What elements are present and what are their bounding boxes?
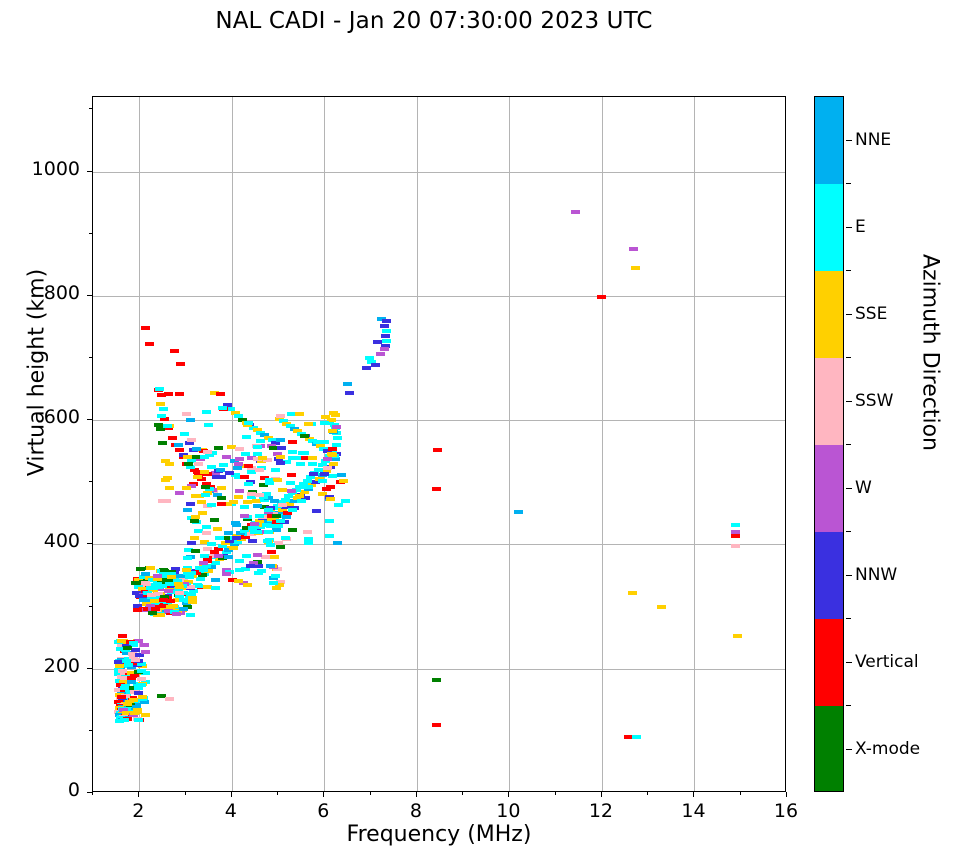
- x-axis-minor-tick: [92, 792, 93, 795]
- echo-point: [373, 340, 382, 344]
- echo-point: [514, 510, 523, 514]
- echo-point: [155, 387, 164, 391]
- colorbar-tick: [846, 314, 852, 315]
- echo-point: [233, 466, 242, 470]
- y-axis-tick: [87, 419, 92, 420]
- echo-point: [182, 568, 191, 572]
- echo-point: [214, 446, 223, 450]
- echo-point: [115, 719, 124, 723]
- echo-point: [334, 503, 343, 507]
- echo-point: [117, 695, 126, 699]
- echo-point: [244, 464, 253, 468]
- echo-point: [432, 487, 441, 491]
- echo-point: [175, 585, 184, 589]
- echo-point: [241, 452, 250, 456]
- colorbar-segment-nnw[interactable]: [815, 532, 843, 620]
- echo-point: [147, 593, 156, 597]
- echo-point: [169, 604, 178, 608]
- echo-point: [134, 718, 143, 722]
- echo-point: [224, 531, 233, 535]
- echo-point: [161, 459, 170, 463]
- echo-point: [140, 700, 149, 704]
- echo-point: [133, 608, 142, 612]
- echo-point: [255, 468, 264, 472]
- echo-point: [382, 329, 391, 333]
- echo-point: [262, 523, 271, 527]
- x-axis-title: Frequency (MHz): [92, 822, 786, 847]
- echo-point: [276, 519, 285, 523]
- echo-point: [304, 485, 313, 489]
- echo-point: [380, 347, 389, 351]
- echo-point: [172, 612, 181, 616]
- echo-point: [309, 472, 318, 476]
- echo-point: [182, 412, 191, 416]
- echo-point: [235, 457, 244, 461]
- echo-point: [733, 634, 742, 638]
- echo-point: [186, 502, 195, 506]
- echo-point: [235, 559, 244, 563]
- echo-point: [320, 440, 329, 444]
- echo-point: [183, 508, 192, 512]
- echo-point: [225, 471, 234, 475]
- echo-point: [337, 473, 346, 477]
- y-axis-tick: [87, 295, 92, 296]
- echo-point: [202, 525, 211, 529]
- echo-point: [123, 646, 132, 650]
- echo-point: [212, 475, 221, 479]
- echo-point: [141, 713, 150, 717]
- echo-point: [244, 421, 253, 425]
- colorbar-segment-e[interactable]: [815, 184, 843, 272]
- echo-point: [165, 582, 174, 586]
- echo-point: [295, 494, 304, 498]
- echo-point: [266, 564, 275, 568]
- colorbar-label-ssw: SSW: [855, 391, 893, 411]
- echo-point: [148, 611, 157, 615]
- echo-point: [234, 495, 243, 499]
- echo-point: [433, 448, 442, 452]
- colorbar-label-nne: NNE: [855, 130, 891, 150]
- echo-point: [127, 680, 136, 684]
- colorbar-boundary-tick: [846, 357, 851, 358]
- echo-point: [190, 519, 199, 523]
- echo-point: [333, 541, 342, 545]
- echo-point: [325, 534, 334, 538]
- echo-point: [136, 567, 145, 571]
- echo-point: [235, 447, 244, 451]
- y-axis-tick: [87, 668, 92, 669]
- echo-point: [158, 499, 167, 503]
- echo-point: [270, 555, 279, 559]
- echo-point: [175, 448, 184, 452]
- echo-point: [211, 586, 220, 590]
- echo-point: [141, 650, 150, 654]
- echo-point: [253, 530, 262, 534]
- echo-point: [264, 508, 273, 512]
- echo-point: [192, 447, 201, 451]
- echo-point: [269, 581, 278, 585]
- echo-point: [328, 474, 337, 478]
- x-axis-tick-label: 12: [571, 800, 631, 822]
- colorbar-segment-ssw[interactable]: [815, 358, 843, 446]
- gridline-horizontal: [93, 296, 785, 297]
- echo-point: [253, 553, 262, 557]
- y-axis-minor-tick: [89, 606, 92, 607]
- echo-point: [308, 462, 317, 466]
- echo-point: [240, 475, 249, 479]
- echo-point: [323, 457, 332, 461]
- echo-point: [325, 519, 334, 523]
- echo-point: [175, 392, 184, 396]
- echo-point: [217, 486, 226, 490]
- echo-point: [165, 486, 174, 490]
- echo-point: [382, 319, 391, 323]
- echo-point: [321, 415, 330, 419]
- gridline-vertical: [602, 97, 603, 791]
- x-axis-tick: [231, 792, 232, 797]
- y-axis-minor-tick: [89, 730, 92, 731]
- echo-point: [191, 549, 200, 553]
- colorbar-segment-vertical[interactable]: [815, 619, 843, 707]
- echo-point: [202, 531, 211, 535]
- echo-point: [376, 352, 385, 356]
- echo-point: [151, 607, 160, 611]
- x-axis-minor-tick: [740, 792, 741, 795]
- colorbar-segment-nne[interactable]: [815, 97, 843, 185]
- colorbar-boundary-tick: [846, 444, 851, 445]
- echo-point: [278, 503, 287, 507]
- echo-point: [256, 439, 265, 443]
- echo-point: [207, 503, 216, 507]
- echo-point: [246, 564, 255, 568]
- echo-point: [296, 462, 305, 466]
- echo-point: [272, 514, 281, 518]
- y-axis-tick-label: 1000: [0, 158, 80, 180]
- x-axis-minor-tick: [277, 792, 278, 795]
- echo-point: [292, 456, 301, 460]
- echo-point: [140, 643, 149, 647]
- echo-point: [217, 502, 226, 506]
- echo-point: [318, 479, 327, 483]
- echo-point: [134, 686, 143, 690]
- echo-point: [164, 589, 173, 593]
- echo-point: [153, 582, 162, 586]
- echo-point: [295, 412, 304, 416]
- echo-point: [632, 735, 641, 739]
- x-axis-tick-label: 4: [201, 800, 261, 822]
- echo-point: [629, 247, 638, 251]
- echo-point: [200, 470, 209, 474]
- echo-point: [255, 493, 264, 497]
- echo-point: [320, 472, 329, 476]
- y-axis-tick: [87, 792, 92, 793]
- echo-point: [234, 579, 243, 583]
- echo-point: [253, 504, 262, 508]
- echo-point: [186, 418, 195, 422]
- echo-point: [276, 455, 285, 459]
- echo-point: [170, 349, 179, 353]
- y-axis-tick: [87, 171, 92, 172]
- colorbar-boundary-tick: [846, 183, 851, 184]
- echo-point: [278, 488, 287, 492]
- echo-point: [175, 491, 184, 495]
- colorbar-tick: [846, 662, 852, 663]
- echo-point: [194, 462, 203, 466]
- colorbar-tick: [846, 227, 852, 228]
- echo-point: [163, 476, 172, 480]
- echo-point: [323, 466, 332, 470]
- gridline-vertical: [509, 97, 510, 791]
- echo-point: [149, 586, 158, 590]
- echo-point: [157, 414, 166, 418]
- echo-point: [281, 498, 290, 502]
- echo-point: [232, 536, 241, 540]
- colorbar-boundary-tick: [846, 531, 851, 532]
- x-axis-tick-label: 14: [663, 800, 723, 822]
- echo-point: [123, 702, 132, 706]
- echo-point: [183, 556, 192, 560]
- x-axis-tick-label: 6: [293, 800, 353, 822]
- y-axis-minor-tick: [89, 233, 92, 234]
- echo-point: [341, 499, 350, 503]
- echo-point: [271, 468, 280, 472]
- echo-point: [281, 536, 290, 540]
- echo-point: [186, 613, 195, 617]
- x-axis-tick: [508, 792, 509, 797]
- x-axis-tick: [323, 792, 324, 797]
- colorbar-boundary-tick: [846, 705, 851, 706]
- echo-point: [382, 339, 391, 343]
- echo-point: [295, 485, 304, 489]
- x-axis-minor-tick: [370, 792, 371, 795]
- echo-point: [203, 450, 212, 454]
- echo-point: [131, 648, 140, 652]
- echo-point: [273, 478, 282, 482]
- y-axis-tick: [87, 543, 92, 544]
- echo-point: [229, 546, 238, 550]
- plot-area: [92, 96, 786, 792]
- echo-point: [201, 485, 210, 489]
- y-axis-tick-label: 0: [0, 779, 80, 801]
- echo-point: [204, 423, 213, 427]
- echo-point: [202, 410, 211, 414]
- echo-point: [276, 438, 285, 442]
- echo-point: [115, 664, 124, 668]
- echo-point: [657, 605, 666, 609]
- colorbar-tick: [846, 488, 852, 489]
- echo-point: [179, 607, 188, 611]
- echo-point: [156, 402, 165, 406]
- x-axis-tick-label: 16: [756, 800, 816, 822]
- x-axis-tick-label: 8: [386, 800, 446, 822]
- x-axis-minor-tick: [185, 792, 186, 795]
- colorbar-segment-x-mode[interactable]: [815, 706, 843, 792]
- echo-point: [304, 541, 313, 545]
- echo-point: [244, 482, 253, 486]
- x-axis-minor-tick: [555, 792, 556, 795]
- echo-point: [242, 435, 251, 439]
- echo-point: [304, 537, 313, 541]
- colorbar-boundary-tick: [846, 270, 851, 271]
- echo-point: [187, 541, 196, 545]
- echo-point: [137, 669, 146, 673]
- x-axis-minor-tick: [647, 792, 648, 795]
- echo-point: [154, 423, 163, 427]
- echo-point: [362, 366, 371, 370]
- echo-point: [243, 583, 252, 587]
- echo-point: [118, 669, 127, 673]
- colorbar-title: Azimuth Direction: [918, 193, 943, 513]
- y-axis-minor-tick: [89, 481, 92, 482]
- x-axis-tick: [693, 792, 694, 797]
- echo-point: [214, 554, 223, 558]
- echo-point: [168, 436, 177, 440]
- echo-point: [333, 436, 342, 440]
- echo-point: [282, 515, 291, 519]
- echo-point: [286, 481, 295, 485]
- echo-point: [164, 392, 173, 396]
- echo-point: [235, 568, 244, 572]
- echo-point: [288, 450, 297, 454]
- colorbar-tick: [846, 401, 852, 402]
- echo-point: [127, 676, 136, 680]
- echo-point: [129, 641, 138, 645]
- echo-point: [303, 479, 312, 483]
- echo-point: [345, 391, 354, 395]
- echo-point: [141, 581, 150, 585]
- colorbar-segment-sse[interactable]: [815, 271, 843, 359]
- echo-point: [156, 613, 165, 617]
- echo-point: [380, 324, 389, 328]
- echo-point: [571, 210, 580, 214]
- echo-point: [287, 473, 296, 477]
- echo-point: [141, 572, 150, 576]
- echo-point: [731, 544, 740, 548]
- echo-point: [339, 479, 348, 483]
- echo-point: [298, 451, 307, 455]
- colorbar-tick: [846, 140, 852, 141]
- colorbar-boundary-tick: [846, 618, 851, 619]
- echo-point: [217, 496, 226, 500]
- echo-point: [153, 574, 162, 578]
- echo-point: [276, 461, 285, 465]
- colorbar-tick: [846, 575, 852, 576]
- echo-point: [174, 443, 183, 447]
- echo-point: [197, 500, 206, 504]
- echo-point: [166, 599, 175, 603]
- echo-point: [224, 555, 233, 559]
- echo-point: [253, 445, 262, 449]
- echo-point: [303, 530, 312, 534]
- echo-point: [124, 663, 133, 667]
- echo-point: [158, 441, 167, 445]
- echo-point: [137, 677, 146, 681]
- echo-point: [199, 561, 208, 565]
- echo-point: [287, 489, 296, 493]
- echo-point: [179, 598, 188, 602]
- echo-point: [234, 462, 243, 466]
- colorbar-label-w: W: [855, 478, 872, 498]
- echo-point: [229, 500, 238, 504]
- colorbar-label-x-mode: X-mode: [855, 739, 920, 759]
- echo-point: [271, 574, 280, 578]
- echo-point: [235, 489, 244, 493]
- x-axis-tick-label: 10: [478, 800, 538, 822]
- echo-point: [343, 382, 352, 386]
- y-axis-tick-label: 400: [0, 530, 80, 552]
- gridline-horizontal: [93, 544, 785, 545]
- echo-point: [326, 485, 335, 489]
- y-axis-tick-label: 200: [0, 655, 80, 677]
- gridline-horizontal: [93, 172, 785, 173]
- echo-point: [371, 363, 380, 367]
- echo-point: [137, 683, 146, 687]
- gridline-vertical: [694, 97, 695, 791]
- echo-point: [196, 577, 205, 581]
- echo-point: [297, 499, 306, 503]
- echo-point: [288, 528, 297, 532]
- echo-point: [211, 561, 220, 565]
- echo-point: [312, 509, 321, 513]
- echo-point: [218, 406, 227, 410]
- echo-point: [320, 421, 329, 425]
- echo-point: [243, 500, 252, 504]
- echo-point: [200, 455, 209, 459]
- colorbar-label-e: E: [855, 217, 866, 237]
- echo-point: [265, 481, 274, 485]
- echo-point: [288, 508, 297, 512]
- echo-point: [159, 407, 168, 411]
- echo-point: [231, 521, 240, 525]
- colorbar-segment-w[interactable]: [815, 445, 843, 533]
- echo-point: [216, 468, 225, 472]
- echo-point: [308, 456, 317, 460]
- echo-point: [215, 536, 224, 540]
- echo-point: [219, 463, 228, 467]
- ionogram-figure: NAL CADI - Jan 20 07:30:00 2023 UTC 2468…: [0, 0, 958, 857]
- echo-point: [277, 446, 286, 450]
- echo-point: [176, 362, 185, 366]
- colorbar-tick: [846, 749, 852, 750]
- echo-point: [216, 392, 225, 396]
- x-axis-tick: [138, 792, 139, 797]
- echo-point: [328, 429, 337, 433]
- echo-point: [211, 578, 220, 582]
- y-axis-minor-tick: [89, 357, 92, 358]
- echo-point: [631, 266, 640, 270]
- echo-point: [187, 438, 196, 442]
- x-axis-tick: [786, 792, 787, 797]
- echo-point: [138, 695, 147, 699]
- echo-point: [201, 493, 210, 497]
- echo-point: [240, 505, 249, 509]
- echo-point: [264, 530, 273, 534]
- echo-point: [180, 432, 189, 436]
- echo-point: [266, 543, 275, 547]
- x-axis-tick-label: 2: [108, 800, 168, 822]
- colorbar[interactable]: [814, 96, 844, 792]
- gridline-horizontal: [93, 420, 785, 421]
- echo-point: [304, 422, 313, 426]
- x-axis-tick: [416, 792, 417, 797]
- echo-point: [190, 536, 199, 540]
- echo-point: [120, 686, 129, 690]
- echo-point: [146, 566, 155, 570]
- echo-point: [185, 575, 194, 579]
- echo-point: [628, 591, 637, 595]
- echo-point: [200, 554, 209, 558]
- echo-point: [165, 697, 174, 701]
